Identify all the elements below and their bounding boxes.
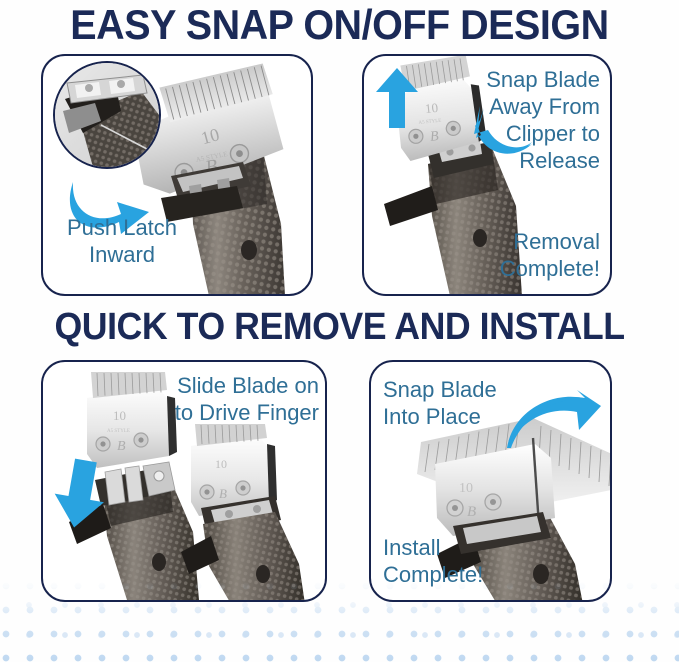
page-title-secondary: QUICK TO REMOVE AND INSTALL bbox=[20, 306, 658, 348]
straight-arrow-up-icon bbox=[374, 68, 420, 128]
panel-snap-away: 10 A5 STYLE B bbox=[362, 54, 612, 296]
svg-text:10: 10 bbox=[459, 481, 473, 496]
clipper-illustration-3-right: 10 B bbox=[171, 424, 327, 602]
straight-arrow-down-left-icon bbox=[53, 460, 107, 528]
svg-text:B: B bbox=[467, 504, 476, 520]
infographic-root: EASY SNAP ON/OFF DESIGN bbox=[0, 0, 679, 662]
svg-text:10: 10 bbox=[424, 100, 438, 116]
panel-snap-into-place: 10 B Snap Blade Into P bbox=[369, 360, 612, 602]
panel-1-caption: Push Latch Inward bbox=[51, 214, 193, 268]
panel-push-latch: 10 A5 STYLE B bbox=[41, 54, 313, 296]
svg-text:10: 10 bbox=[113, 408, 126, 423]
panel-2-caption-main: Snap Blade Away From Clipper to Release bbox=[460, 66, 600, 174]
panel-2-caption-secondary: Removal Complete! bbox=[460, 228, 600, 282]
svg-text:A5 STYLE: A5 STYLE bbox=[107, 429, 130, 434]
svg-text:10: 10 bbox=[215, 457, 227, 471]
inset-detail-circle-1 bbox=[53, 61, 161, 169]
panel-4-caption-main: Snap Blade Into Place bbox=[383, 376, 543, 430]
svg-text:B: B bbox=[117, 439, 126, 454]
panel-slide-blade: 10 A5 STYLE B bbox=[41, 360, 327, 602]
panel-3-caption: Slide Blade on to Drive Finger bbox=[157, 372, 319, 426]
inset-detail-art bbox=[55, 63, 159, 167]
svg-text:B: B bbox=[219, 486, 227, 501]
page-title-primary: EASY SNAP ON/OFF DESIGN bbox=[20, 2, 658, 48]
panel-4-caption-secondary: Install Complete! bbox=[383, 534, 543, 588]
